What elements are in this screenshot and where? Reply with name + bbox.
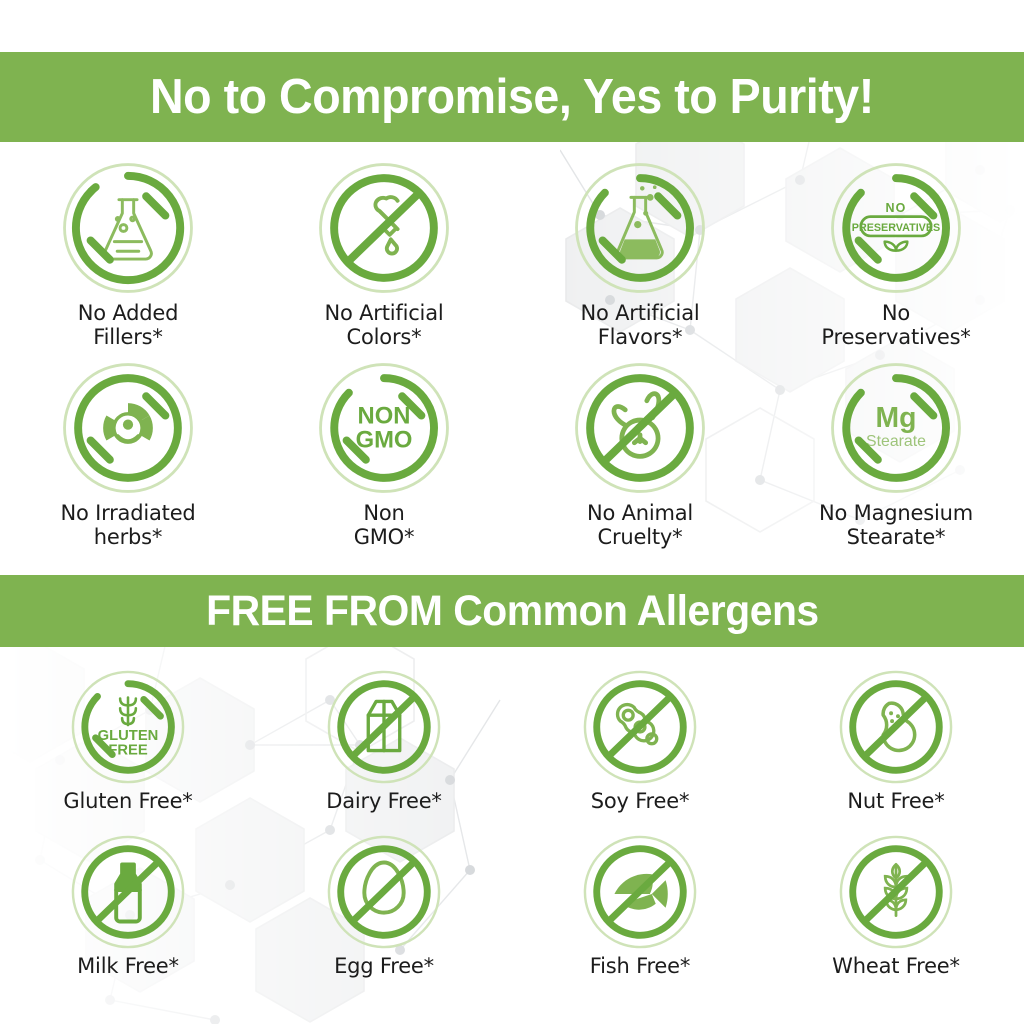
mg-stearate-badge-main: Stearate	[866, 433, 926, 450]
no-preservatives-badge-top: NO	[886, 201, 907, 215]
badge-egg-free[interactable]: Egg Free*	[256, 833, 512, 998]
badge-label: No Animal Cruelty*	[587, 502, 693, 550]
badge-label: Egg Free*	[334, 955, 434, 979]
badge-fish-free[interactable]: Fish Free*	[512, 833, 768, 998]
gluten-free-badge-top: GLUTEN	[98, 728, 159, 744]
badge-label: Wheat Free*	[832, 955, 960, 979]
badge-label: No Artificial Colors*	[324, 302, 443, 350]
badge-label: Fish Free*	[590, 955, 690, 979]
badge-dairy-free[interactable]: Dairy Free*	[256, 668, 512, 833]
badge-label: Gluten Free*	[63, 790, 192, 814]
badge-label: Nut Free*	[847, 790, 944, 814]
badge-no-irradiated-herbs[interactable]: No Irradiated herbs*	[0, 360, 256, 560]
badge-label: No Magnesium Stearate*	[819, 502, 973, 550]
badge-no-magnesium-stearate[interactable]: Mg Stearate No Magnesium Stearate*	[768, 360, 1024, 560]
dairy-free-icon	[325, 668, 443, 786]
badge-label: Soy Free*	[591, 790, 690, 814]
banner-allergens: FREE FROM Common Allergens	[0, 575, 1024, 647]
badge-no-animal-cruelty[interactable]: No Animal Cruelty*	[512, 360, 768, 560]
badge-nut-free[interactable]: Nut Free*	[768, 668, 1024, 833]
non-gmo-icon: NON GMO	[316, 360, 452, 496]
gluten-free-icon: GLUTEN FREE	[69, 668, 187, 786]
badge-label: Non GMO*	[354, 502, 415, 550]
mg-stearate-badge-top: Mg	[876, 402, 917, 434]
no-added-fillers-icon	[60, 160, 196, 296]
allergen-badge-grid: GLUTEN FREE Gluten Free*	[0, 668, 1024, 998]
badge-non-gmo[interactable]: NON GMO Non GMO*	[256, 360, 512, 560]
no-preservatives-icon: NO PRESERVATIVES	[828, 160, 964, 296]
badge-label: Milk Free*	[77, 955, 179, 979]
badge-label: No Added Fillers*	[78, 302, 179, 350]
badge-label: No Preservatives*	[821, 302, 970, 350]
badge-label: Dairy Free*	[326, 790, 441, 814]
fish-free-icon	[581, 833, 699, 951]
banner-purity: No to Compromise, Yes to Purity!	[0, 52, 1024, 142]
badge-no-preservatives[interactable]: NO PRESERVATIVES No Preservatives*	[768, 160, 1024, 360]
badge-no-artificial-flavors[interactable]: No Artificial Flavors*	[512, 160, 768, 360]
badge-no-added-fillers[interactable]: No Added Fillers*	[0, 160, 256, 360]
nut-free-icon	[837, 668, 955, 786]
non-gmo-badge-main: GMO	[356, 426, 413, 453]
egg-free-icon	[325, 833, 443, 951]
no-artificial-flavors-icon	[572, 160, 708, 296]
badge-label: No Artificial Flavors*	[580, 302, 699, 350]
no-preservatives-badge-main: PRESERVATIVES	[852, 222, 940, 234]
purity-badge-grid: No Added Fillers* No Artificial Colors*	[0, 160, 1024, 560]
soy-free-icon	[581, 668, 699, 786]
badge-soy-free[interactable]: Soy Free*	[512, 668, 768, 833]
milk-free-icon	[69, 833, 187, 951]
no-animal-cruelty-icon	[572, 360, 708, 496]
no-artificial-colors-icon	[316, 160, 452, 296]
badge-no-artificial-colors[interactable]: No Artificial Colors*	[256, 160, 512, 360]
no-irradiated-herbs-icon	[60, 360, 196, 496]
badge-gluten-free[interactable]: GLUTEN FREE Gluten Free*	[0, 668, 256, 833]
banner-allergens-text: FREE FROM Common Allergens	[206, 590, 819, 633]
badge-wheat-free[interactable]: Wheat Free*	[768, 833, 1024, 998]
banner-purity-text: No to Compromise, Yes to Purity!	[150, 73, 874, 122]
infographic-root: No to Compromise, Yes to Purity!	[0, 0, 1024, 1024]
wheat-free-icon	[837, 833, 955, 951]
badge-milk-free[interactable]: Milk Free*	[0, 833, 256, 998]
badge-label: No Irradiated herbs*	[60, 502, 195, 550]
no-magnesium-stearate-icon: Mg Stearate	[828, 360, 964, 496]
